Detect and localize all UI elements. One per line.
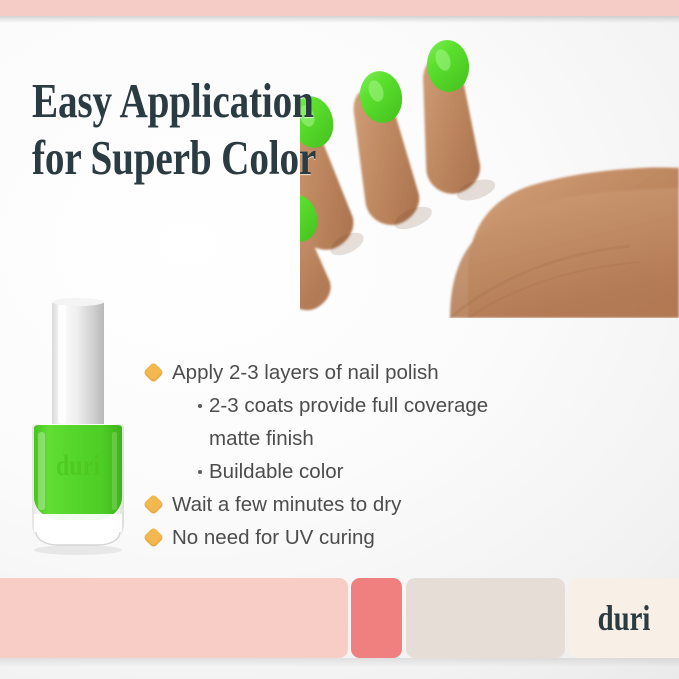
- bullet-text: Wait a few minutes to dry: [172, 488, 576, 521]
- sub-bullet-text: Buildable color: [209, 455, 343, 488]
- bottle-illustration: duri: [18, 292, 153, 564]
- bullet-item: No need for UV curing: [146, 521, 576, 554]
- diamond-bullet-icon: [143, 527, 164, 548]
- diamond-bullet-icon: [143, 494, 164, 515]
- bottle-cap: [52, 298, 104, 427]
- swatch-bar-shadow: [0, 658, 679, 667]
- top-pink-banner: [0, 0, 679, 16]
- dot-bullet-icon: [198, 404, 202, 408]
- bullet-item: Wait a few minutes to dry: [146, 488, 576, 521]
- bottle-label-text: duri: [56, 448, 100, 481]
- bullet-item: Apply 2-3 layers of nail polish: [146, 356, 576, 389]
- sub-bullet-item: Buildable color: [198, 455, 576, 488]
- hand-illustration: [300, 18, 679, 318]
- swatch-pink: [0, 578, 348, 658]
- hand-photo: [300, 18, 679, 318]
- brand-logo-text: duri: [598, 597, 651, 639]
- headline-line-1: Easy Application: [32, 72, 296, 129]
- product-marketing-image: Easy Application for Superb Color: [0, 0, 679, 679]
- swatch-coral: [351, 578, 402, 658]
- nail-polish-bottle: duri: [18, 292, 153, 564]
- bullet-text: No need for UV curing: [172, 521, 576, 554]
- headline-line-2: for Superb Color: [32, 129, 296, 186]
- feature-bullet-list: Apply 2-3 layers of nail polish 2-3 coat…: [146, 356, 576, 554]
- dot-bullet-icon: [198, 470, 202, 474]
- sub-bullet-item: 2-3 coats provide full coverage: [198, 389, 576, 422]
- brand-logo: duri: [569, 578, 679, 658]
- headline: Easy Application for Superb Color: [32, 72, 296, 186]
- bottle-body: duri: [32, 424, 124, 546]
- bullet-text: Apply 2-3 layers of nail polish: [172, 356, 576, 389]
- swatch-beige: [406, 578, 565, 658]
- sub-bullet-continuation: matte finish: [209, 422, 576, 455]
- sub-bullet-text: 2-3 coats provide full coverage: [209, 389, 488, 422]
- diamond-bullet-icon: [143, 362, 164, 383]
